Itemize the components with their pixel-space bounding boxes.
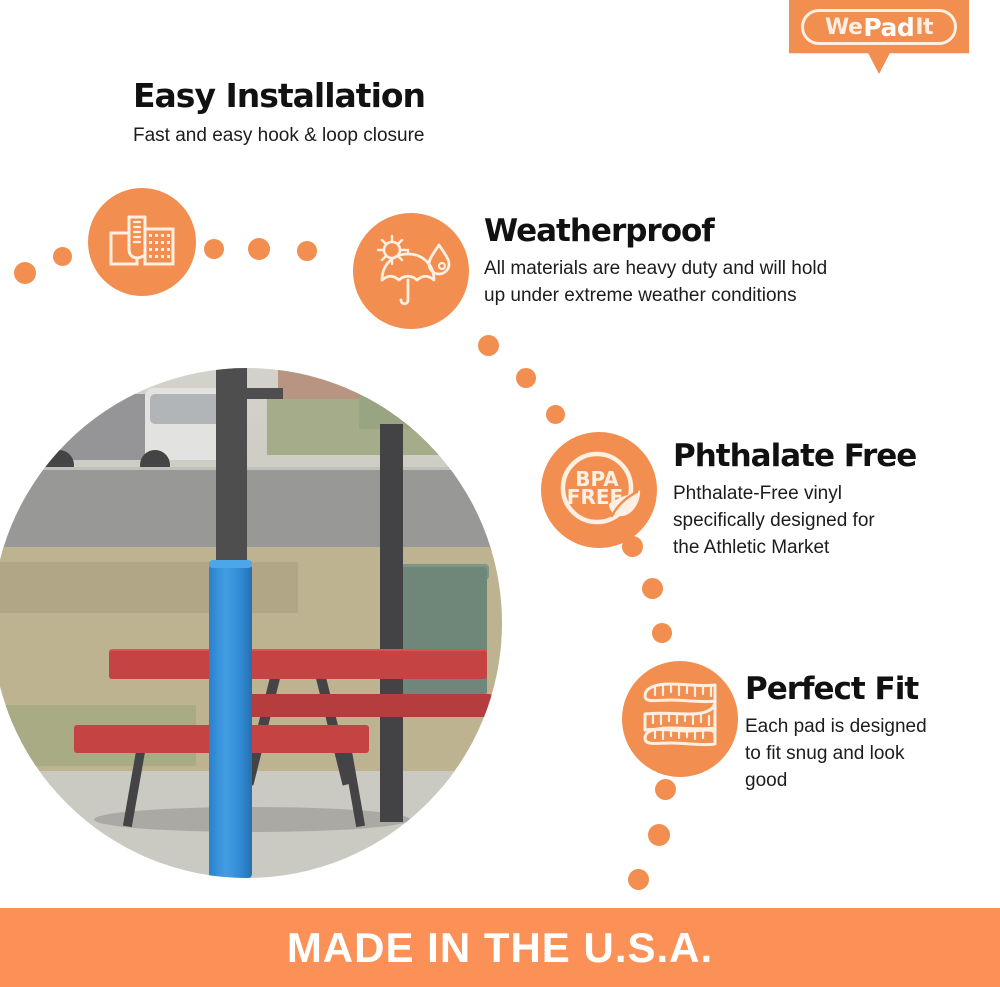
logo-text-plate: WePadIt <box>801 9 957 45</box>
umbrella-sun-raindrop-glyph <box>370 233 452 309</box>
feature-body-perfect-fit-line1: Each pad is designed <box>745 713 990 740</box>
measuring-tape-glyph <box>637 676 723 762</box>
feature-block-weatherproof: Weatherproof All materials are heavy dut… <box>484 212 914 309</box>
feature-body-phthalate-line1: Phthalate-Free vinyl <box>673 480 983 507</box>
trail-dot <box>546 405 565 424</box>
trail-dot <box>248 238 270 260</box>
logo-text-pad: Pad <box>862 13 915 42</box>
trail-dot <box>652 623 672 643</box>
product-photo-scene <box>0 368 502 878</box>
feature-title-easy-installation: Easy Installation <box>133 76 425 116</box>
hook-and-loop-glyph <box>107 211 177 273</box>
measuring-tape-icon <box>622 661 738 777</box>
feature-body-easy-installation: Fast and easy hook & loop closure <box>133 123 425 149</box>
photo-overlay-wash <box>0 368 502 878</box>
infographic-page: WePadIt Easy Installation Fast and easy … <box>0 0 1000 987</box>
trail-dot <box>297 241 317 261</box>
feature-body-perfect-fit-line3: good <box>745 767 990 794</box>
feature-block-easy-installation: Easy Installation Fast and easy hook & l… <box>133 76 425 149</box>
bpa-free-leaf-icon: BPA FREE <box>541 432 657 548</box>
trail-dot <box>516 368 536 388</box>
feature-body-perfect-fit-line2: to fit snug and look <box>745 740 990 767</box>
feature-body-phthalate-line2: specifically designed for <box>673 507 983 534</box>
feature-body-weatherproof-line2: up under extreme weather conditions <box>484 282 914 309</box>
product-photo <box>0 368 502 878</box>
umbrella-sun-raindrop-icon <box>353 213 469 329</box>
feature-title-phthalate-free: Phthalate Free <box>673 437 983 475</box>
trail-dot <box>204 239 224 259</box>
feature-body-weatherproof-line1: All materials are heavy duty and will ho… <box>484 255 914 282</box>
bpa-free-leaf-glyph: BPA FREE <box>551 442 647 538</box>
hook-and-loop-icon <box>88 188 196 296</box>
logo-text-we: We <box>825 15 862 40</box>
trail-dot <box>642 578 663 599</box>
trail-dot <box>478 335 499 356</box>
trail-dot <box>628 869 649 890</box>
feature-title-weatherproof: Weatherproof <box>484 212 914 250</box>
feature-block-phthalate-free: Phthalate Free Phthalate-Free vinyl spec… <box>673 437 983 561</box>
trail-dot <box>655 779 676 800</box>
made-in-usa-text: MADE IN THE U.S.A. <box>287 924 713 972</box>
trail-dot <box>648 824 670 846</box>
feature-title-perfect-fit: Perfect Fit <box>745 670 990 708</box>
logo-text-it: It <box>915 15 933 40</box>
feature-block-perfect-fit: Perfect Fit Each pad is designed to fit … <box>745 670 990 794</box>
trail-dot <box>53 247 72 266</box>
brand-logo[interactable]: WePadIt <box>789 0 969 74</box>
trail-dot <box>14 262 36 284</box>
feature-body-phthalate-line3: the Athletic Market <box>673 534 983 561</box>
made-in-usa-banner: MADE IN THE U.S.A. <box>0 908 1000 987</box>
